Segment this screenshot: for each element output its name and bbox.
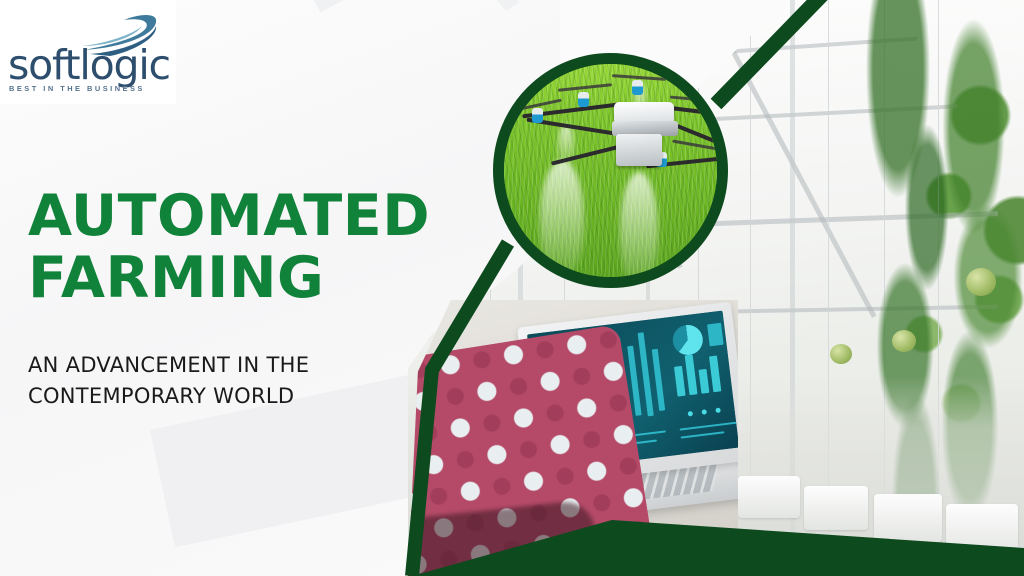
subtitle-line-1: AN ADVANCEMENT IN THE [28,353,309,377]
grow-bag [946,504,1018,556]
grow-bag [738,476,800,518]
dashboard-column [652,349,666,411]
dashboard-bar [674,366,686,397]
dashboard-dot [688,411,694,417]
drone-circle-badge [493,53,728,288]
drone-motor [532,108,543,123]
melon-fruit [892,330,916,352]
poster-canvas: softlogic BEST IN THE BUSINESS AUTOMATED… [0,0,1024,576]
spray-mist [620,172,658,288]
dashboard-bar [709,356,721,393]
brand-logo[interactable]: softlogic BEST IN THE BUSINESS [0,0,176,104]
spray-mist [540,160,584,280]
dashboard-pie-chart [671,323,704,356]
logo-tagline: BEST IN THE BUSINESS [9,84,145,93]
page-title: AUTOMATED FARMING [28,186,488,309]
dashboard-tile [707,323,724,347]
grow-bag [874,494,942,542]
logo-wordmark: softlogic [8,45,170,86]
greenhouse-brace [598,0,855,33]
drone-spray-tank [616,134,662,166]
dashboard-dot [701,409,707,415]
dashboard-dot [715,408,721,414]
drone-motor [632,80,643,95]
dashboard-bar [699,369,710,394]
melon-fruit [830,344,852,364]
dashboard-row [680,422,738,431]
dashboard-row [681,431,725,438]
melon-fruit [966,268,996,296]
dashboard-bar [685,354,698,395]
page-subtitle: AN ADVANCEMENT IN THE CONTEMPORARY WORLD [28,350,428,412]
grow-bag [804,486,868,530]
drone-motor [578,92,589,107]
laptop-user-photo [408,300,738,576]
subtitle-line-2: CONTEMPORARY WORLD [28,381,428,412]
headline-line-2: FARMING [28,248,488,310]
headline-line-1: AUTOMATED [28,183,430,249]
